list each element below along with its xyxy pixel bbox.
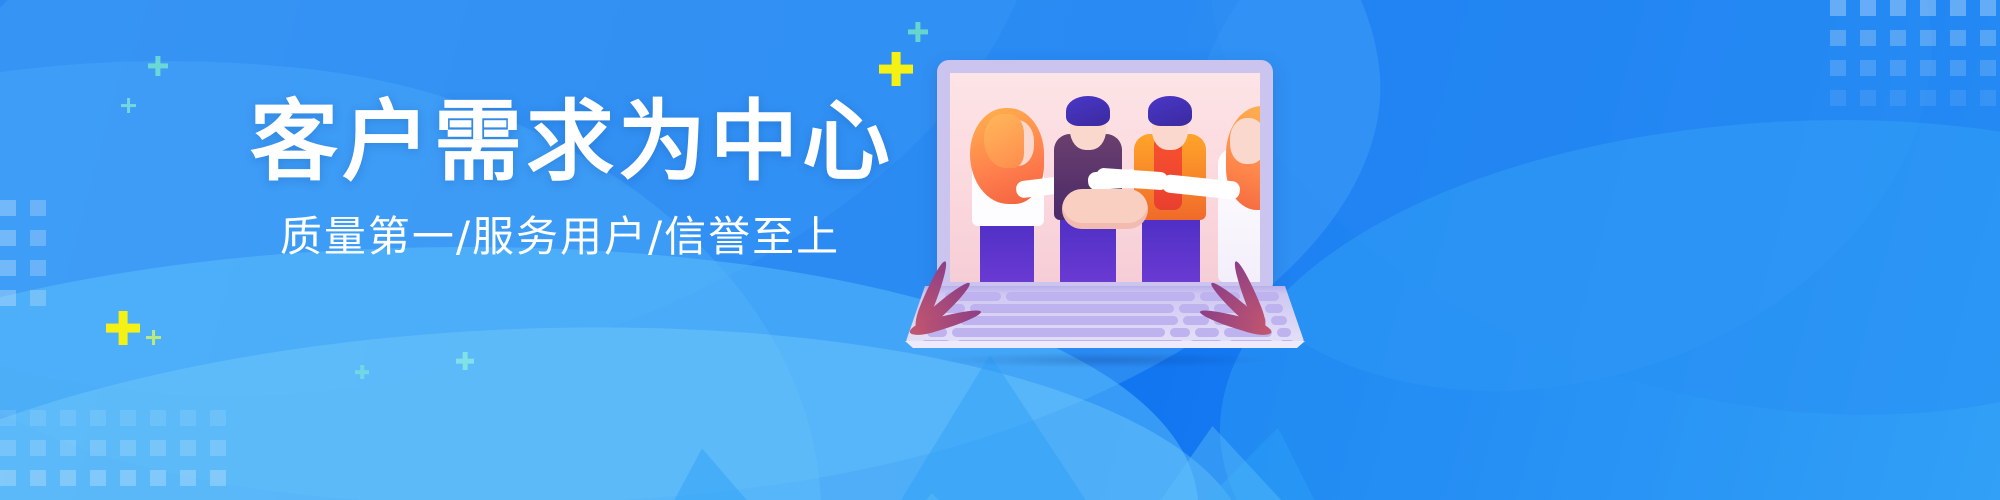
plus-teal-icon xyxy=(121,98,136,113)
keyboard-row xyxy=(945,292,1279,301)
plus-lime-icon xyxy=(146,330,161,345)
keyboard-row-spacebar xyxy=(915,352,1299,361)
laptop-base-edge xyxy=(905,341,1305,348)
head xyxy=(1230,118,1260,164)
promotional-banner: 客户需求为中心 质量第一/服务用户/信誉至上 xyxy=(0,0,2000,500)
person-woman-right xyxy=(1208,92,1260,282)
keyboard-row xyxy=(939,304,1283,313)
keyboard-row xyxy=(927,328,1291,337)
stacked-hands xyxy=(1062,189,1148,229)
laptop-base xyxy=(905,286,1305,344)
wave-shape-right-low xyxy=(1220,120,2000,500)
legs xyxy=(1142,210,1200,282)
hair xyxy=(1148,96,1192,126)
hair-front xyxy=(984,114,1024,168)
person-woman-left xyxy=(964,92,1056,282)
laptop-lid xyxy=(937,60,1273,288)
square-grid-bottom-left xyxy=(0,410,240,500)
square-grid-top-right xyxy=(1830,0,2000,110)
plus-yellow-icon xyxy=(106,311,140,345)
laptop-screen xyxy=(950,73,1260,282)
square-grid-left-middle xyxy=(0,200,60,320)
banner-headline: 客户需求为中心 xyxy=(250,96,870,188)
plus-teal-icon xyxy=(908,22,928,42)
plus-teal-icon xyxy=(148,56,168,76)
banner-copy: 客户需求为中心 质量第一/服务用户/信誉至上 xyxy=(250,96,870,260)
hair xyxy=(1066,96,1110,126)
banner-subheadline: 质量第一/服务用户/信誉至上 xyxy=(250,214,870,260)
plus-teal-icon xyxy=(355,365,369,379)
plus-teal-icon xyxy=(456,352,474,370)
laptop-illustration xyxy=(905,60,1305,360)
keyboard-row xyxy=(933,316,1287,325)
